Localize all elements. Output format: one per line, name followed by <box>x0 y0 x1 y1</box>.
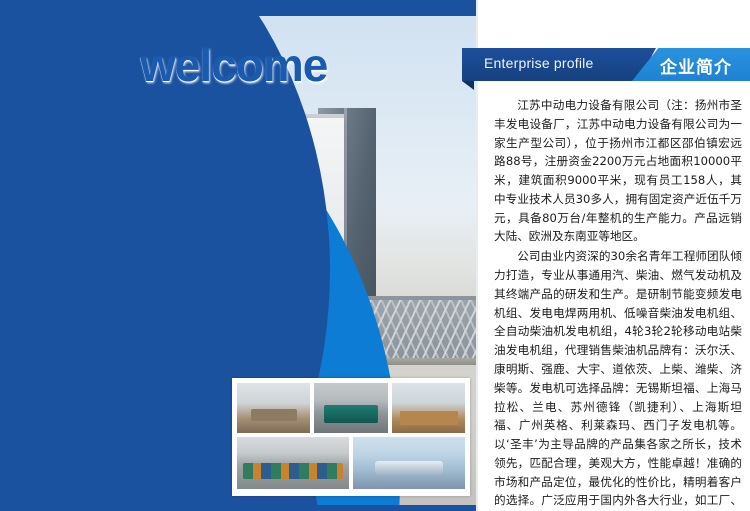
profile-body-text: 江苏中动电力设备有限公司（注：扬州市圣丰发电设备厂，江苏中动电力设备有限公司为一… <box>494 96 742 511</box>
profile-paragraph-2: 公司由业内资深的30余名青年工程师团队倾力打造，专业从事通用汽、柴油、燃气发动机… <box>494 247 742 511</box>
content-panel-inner: Enterprise profile 企业简介 江苏中动电力设备有限公司（注：扬… <box>476 0 750 511</box>
conference-room-photo <box>353 437 465 489</box>
factory-floor-photo <box>237 437 349 489</box>
company-profile-page: 中动电力 江苏中动电力设备有限公司 Zhongdong Power Equipm… <box>0 0 750 511</box>
meeting-room-photo <box>237 383 310 433</box>
content-panel: Enterprise profile 企业简介 江苏中动电力设备有限公司（注：扬… <box>476 0 750 511</box>
reception-office-photo <box>392 383 465 433</box>
top-edge-bar <box>0 0 476 16</box>
collage-row-top <box>237 383 465 433</box>
banner-title-english: Enterprise profile <box>484 55 593 71</box>
collage-row-bottom <box>237 437 465 489</box>
banner-title-chinese: 企业简介 <box>660 53 732 78</box>
profile-paragraph-1: 江苏中动电力设备有限公司（注：扬州市圣丰发电设备厂，江苏中动电力设备有限公司为一… <box>494 96 742 246</box>
section-banner: Enterprise profile 企业简介 <box>462 48 750 81</box>
left-edge-bar <box>0 0 14 511</box>
hero-panel: 中动电力 江苏中动电力设备有限公司 Zhongdong Power Equipm… <box>0 0 476 511</box>
bottom-edge-bar <box>0 505 476 511</box>
photo-collage <box>232 378 470 496</box>
generator-sets-photo <box>314 383 387 433</box>
welcome-heading: welcome <box>140 38 327 92</box>
